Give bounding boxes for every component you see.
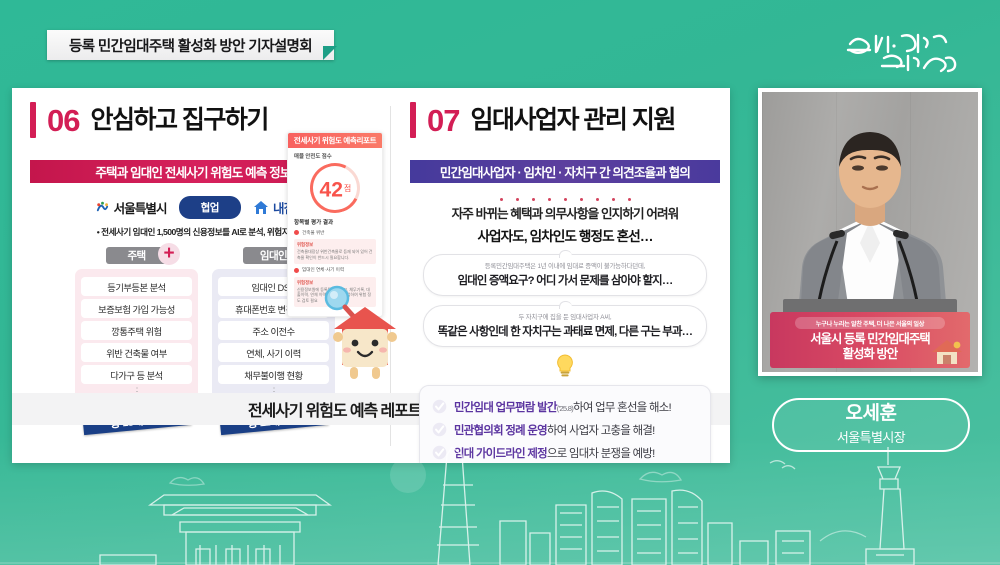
section-06-accent-bar bbox=[30, 102, 36, 138]
emphasis-dot-icon bbox=[596, 198, 599, 201]
emphasis-dot-icon bbox=[548, 198, 551, 201]
bubble-quiet-text: 두 자치구에 집을 둔 임대사업자 A씨, bbox=[434, 312, 696, 321]
check-icon bbox=[432, 399, 447, 414]
solution-annotation: ('25.8) bbox=[557, 404, 573, 413]
criteria-item: 연체, 사기 이력 bbox=[218, 343, 329, 362]
solution-rest: 으로 임대차 분쟁을 예방! bbox=[547, 448, 655, 460]
risk-report-subtitle: 매물 안전도 점수 bbox=[288, 148, 382, 162]
complaint-bubble-2: 두 자치구에 집을 둔 임대사업자 A씨, 똑같은 사항인데 한 자치구는 과태… bbox=[423, 305, 707, 347]
lower-third-tagline: 누구나 누리는 알찬 주택, 더 나은 서울의 일상 bbox=[795, 317, 945, 329]
summary-plain-text: 전세사기 위험도 예측 레포트 bbox=[248, 397, 421, 421]
risk-report-row: 건축물 위반 bbox=[288, 228, 382, 237]
risk-row-detail: 위험정보 건축물대장상 위반건축물로 등재 되어 있어 건축물 확인이 반드시 … bbox=[294, 239, 376, 264]
solution-keyword: 민간임대 업무편람 발간 bbox=[454, 402, 557, 414]
solution-item: 민간임대 업무편람 발간('25.8)하여 업무 혼선을 해소! bbox=[432, 395, 698, 418]
emphasis-dot-icon bbox=[580, 198, 583, 201]
risk-report-row: 임대인 연체·사기 이력 bbox=[288, 266, 382, 275]
check-icon bbox=[432, 422, 447, 437]
solution-text: 임대 가이드라인 제정으로 임대차 분쟁을 예방! bbox=[454, 445, 655, 461]
bubble-quiet-text: 등록민간임대주택은 1년 이내에 임대료 증액이 불가능하다던데, bbox=[434, 261, 696, 270]
section-06-title: 안심하고 집구하기 bbox=[90, 108, 267, 133]
risk-detail-head: 위험정보 bbox=[297, 242, 373, 248]
emphasis-dot-icon bbox=[516, 198, 519, 201]
check-icon bbox=[432, 445, 447, 460]
broadcast-headline-text: 등록 민간임대주택 활성화 방안 기자설명회 bbox=[69, 35, 312, 56]
risk-score-value: 42 bbox=[320, 167, 343, 213]
presentation-slide: 06 안심하고 집구하기 주택과 임대인 전세사기 위험도 예측 정보 제공 서… bbox=[12, 88, 730, 463]
section-07-heading: 07 임대사업자 관리 지원 bbox=[410, 102, 720, 138]
criteria-item: 채무불이행 현황 bbox=[218, 365, 329, 384]
solution-rest: 하여 업무 혼선을 해소! bbox=[573, 402, 671, 414]
seoul-slogan-logo bbox=[838, 22, 968, 78]
criteria-item: 다가구 등 분석 bbox=[81, 365, 192, 384]
plus-icon: + bbox=[158, 243, 180, 265]
solution-keyword: 임대 가이드라인 제정 bbox=[454, 448, 547, 460]
solution-list: 민간임대 업무편람 발간('25.8)하여 업무 혼선을 해소! 민관협의회 정… bbox=[419, 385, 711, 463]
risk-score-unit: 점 bbox=[344, 183, 351, 194]
solution-rest: 하여 사업자 고충을 해결! bbox=[547, 425, 655, 437]
criteria-item: 위반 건축물 여부 bbox=[81, 343, 192, 362]
seoul-city-mark: 서울특별시 bbox=[95, 198, 167, 217]
solution-text: 민관협의회 정례 운영하여 사업자 고충을 해결! bbox=[454, 422, 655, 438]
criteria-item: 등기부등본 분석 bbox=[81, 277, 192, 296]
house-mascot-character bbox=[330, 303, 400, 383]
lead-line-1: 자주 바뀌는 혜택과 의무사항을 인지하기 어려워 bbox=[410, 203, 720, 222]
seoul-skyline-illustration bbox=[0, 445, 1000, 565]
broadcast-headline-bar: 등록 민간임대주택 활성화 방안 기자설명회 bbox=[47, 30, 334, 60]
risk-score-wrap: 42 점 bbox=[288, 163, 382, 213]
section-06-number: 06 bbox=[47, 105, 79, 136]
speaker-role: 서울특별시장 bbox=[837, 427, 905, 446]
risk-report-header: 전세사기 위험도 예측리포트 bbox=[288, 133, 382, 148]
video-feed: 누구나 누리는 알찬 주택, 더 나은 서울의 일상 서울시 등록 민간임대주택… bbox=[762, 92, 978, 372]
section-07-accent-bar bbox=[410, 102, 416, 138]
criteria-item: 주소 이전수 bbox=[218, 321, 329, 340]
risk-report-result-label: 항목별 평가 결과 bbox=[288, 213, 382, 228]
emphasis-dot-row bbox=[410, 198, 720, 201]
lower-third-house-icon bbox=[930, 338, 964, 366]
complaint-bubble-1: 등록민간임대주택은 1년 이내에 임대료 증액이 불가능하다던데, 임대인 증액… bbox=[423, 254, 707, 296]
house-logo-icon bbox=[253, 200, 269, 215]
emphasis-dot-icon bbox=[564, 198, 567, 201]
risk-row-title: 건축물 위반 bbox=[302, 230, 324, 236]
emphasis-dot-icon bbox=[500, 198, 503, 201]
criteria-item: 보증보험 가입 가능성 bbox=[81, 299, 192, 318]
risk-score-ring: 42 점 bbox=[303, 156, 366, 219]
section-07-banner: 민간임대사업자 · 임차인 · 자치구 간 의견조율과 협의 bbox=[410, 160, 720, 183]
emphasis-dot-icon bbox=[628, 198, 631, 201]
solution-item: 민관협의회 정례 운영하여 사업자 고충을 해결! bbox=[432, 418, 698, 441]
section-07: 07 임대사업자 관리 지원 민간임대사업자 · 임차인 · 자치구 간 의견조… bbox=[410, 102, 720, 463]
section-07-number: 07 bbox=[427, 105, 459, 136]
bubble-main-text: 똑같은 사항인데 한 자치구는 과태료 면제, 다른 구는 부과… bbox=[434, 323, 696, 339]
risk-detail-body: 건축물대장상 위반건축물로 등재 되어 있어 건축물 확인이 반드시 필요합니다… bbox=[297, 249, 373, 261]
criteria-list-housing: 등기부등본 분석 보증보험 가입 가능성 깡통주택 위험 위반 건축물 여부 다… bbox=[75, 269, 198, 407]
emphasis-dot-icon bbox=[612, 198, 615, 201]
solution-item: 임대 가이드라인 제정으로 임대차 분쟁을 예방! bbox=[432, 441, 698, 463]
section-07-lead: 자주 바뀌는 혜택과 의무사항을 인지하기 어려워 사업자도, 임차인도 행정도… bbox=[410, 198, 720, 245]
warning-dot-icon bbox=[294, 268, 299, 273]
lead-line-2: 사업자도, 임차인도 행정도 혼선… bbox=[410, 225, 720, 245]
lower-third-banner: 누구나 누리는 알찬 주택, 더 나은 서울의 일상 서울시 등록 민간임대주택… bbox=[770, 312, 970, 368]
section-07-title: 임대사업자 관리 지원 bbox=[470, 108, 674, 133]
criteria-item: 깡통주택 위험 bbox=[81, 321, 192, 340]
seoul-city-label: 서울특별시 bbox=[114, 198, 167, 217]
speaker-name: 오세훈 bbox=[846, 404, 897, 425]
seoul-emblem-icon bbox=[95, 200, 110, 215]
emphasis-dot-icon bbox=[532, 198, 535, 201]
lightbulb-icon bbox=[554, 353, 576, 379]
speaker-figure bbox=[775, 123, 965, 338]
speaker-nameplate: 오세훈 서울특별시장 bbox=[772, 398, 970, 452]
collaboration-pill: 협업 bbox=[179, 196, 241, 219]
solution-keyword: 민관협의회 정례 운영 bbox=[454, 425, 547, 437]
warning-dot-icon bbox=[294, 230, 299, 235]
risk-row-title: 임대인 연체·사기 이력 bbox=[302, 267, 344, 273]
bubble-main-text: 임대인 증액요구? 어디 가서 문제를 삼아야 할지… bbox=[434, 272, 696, 288]
speaker-video-panel: 누구나 누리는 알찬 주택, 더 나은 서울의 일상 서울시 등록 민간임대주택… bbox=[758, 88, 982, 376]
solution-text: 민간임대 업무편람 발간('25.8)하여 업무 혼선을 해소! bbox=[454, 399, 671, 415]
